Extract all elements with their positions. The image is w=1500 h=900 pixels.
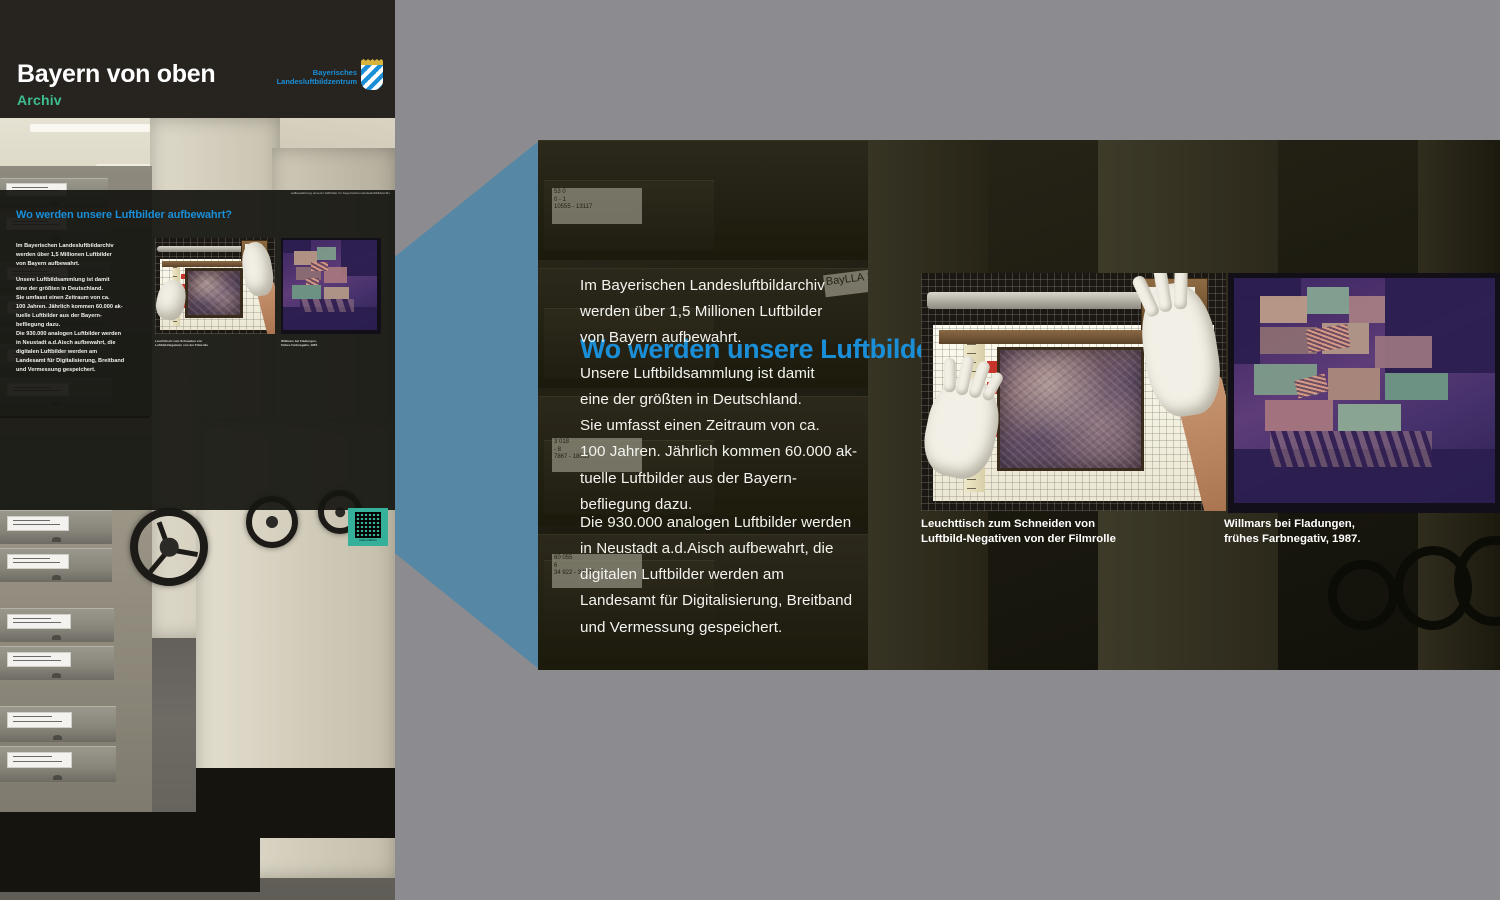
aerial-negative-on-lighttable bbox=[997, 347, 1143, 471]
panel-paragraph: Die 930.000 analogen Luftbilder werden i… bbox=[16, 330, 156, 375]
aerial-negative-photo-thumbnail bbox=[281, 238, 381, 334]
panel-title-thumbnail: Wo werden unsere Luftbilder aufbewahrt? bbox=[16, 209, 232, 221]
archive-box bbox=[0, 510, 112, 544]
archive-box bbox=[0, 646, 114, 680]
bavarian-coat-of-arms-icon bbox=[361, 64, 383, 90]
logo-text: Bayerisches Landesluftbildzentrum bbox=[277, 68, 357, 87]
panel-paragraph-3: Die 930.000 analogen Luftbilder werden i… bbox=[580, 510, 910, 641]
screenshot-canvas: aufbewahrung unserer luftbilder im bayer… bbox=[0, 0, 1500, 900]
panel-paragraph: Unsere Luftbildsammlung ist damit eine d… bbox=[16, 276, 156, 330]
image-caption-2: Willmars bei Fladungen, frühes Farbnegat… bbox=[1224, 517, 1500, 548]
panel-paragraph: Im Bayerischen Landesluftbildarchiv werd… bbox=[16, 242, 156, 269]
image-caption-thumbnail: Leuchttisch zum Schneiden von Luftbild-N… bbox=[155, 339, 275, 348]
poster-header: Bayern von oben Archiv Bayerisches Lande… bbox=[0, 0, 395, 118]
cabinet-base bbox=[196, 768, 395, 838]
ceiling-light bbox=[30, 124, 150, 132]
zoom-connector-shape bbox=[395, 140, 540, 670]
archive-box bbox=[0, 746, 116, 782]
panel-top-note: aufbewahrung unserer luftbilder im bayer… bbox=[278, 191, 390, 195]
poster-subtitle: Archiv bbox=[17, 92, 62, 108]
image-caption-1: Leuchttisch zum Schneiden von Luftbild-N… bbox=[921, 517, 1221, 548]
bllz-logo: Bayerisches Landesluftbildzentrum bbox=[277, 64, 383, 90]
poster-info-panel-thumbnail[interactable]: aufbewahrung unserer luftbilder im bayer… bbox=[0, 190, 395, 510]
image-caption-thumbnail: Willmars bei Fladungen, frühes Farbnegat… bbox=[281, 339, 381, 348]
aerial-negative-photo bbox=[1228, 273, 1500, 513]
crown-icon bbox=[361, 59, 383, 65]
qr-code-label: mehr erfahren bbox=[359, 539, 376, 542]
shelf-handwheel[interactable] bbox=[130, 508, 208, 586]
panel-paragraph-2: Unsere Luftbildsammlung ist damit eine d… bbox=[580, 361, 910, 518]
lighttable-photo-thumbnail bbox=[155, 238, 275, 334]
qr-code-sticker[interactable]: mehr erfahren bbox=[348, 508, 388, 546]
archive-box bbox=[0, 706, 116, 742]
lighttable-photo bbox=[921, 273, 1226, 511]
panel-paragraph-1: Im Bayerischen Landesluftbildarchiv werd… bbox=[580, 273, 910, 351]
enlarged-info-panel[interactable]: 53 0 0 - 1 10555 - 13117 3 018 - 8 7867 … bbox=[538, 140, 1500, 670]
poster-left-photo: aufbewahrung unserer luftbilder im bayer… bbox=[0, 0, 395, 900]
qr-code-icon bbox=[355, 512, 381, 538]
archive-box bbox=[0, 608, 114, 642]
poster-title: Bayern von oben bbox=[17, 60, 215, 89]
archive-box bbox=[0, 548, 112, 582]
